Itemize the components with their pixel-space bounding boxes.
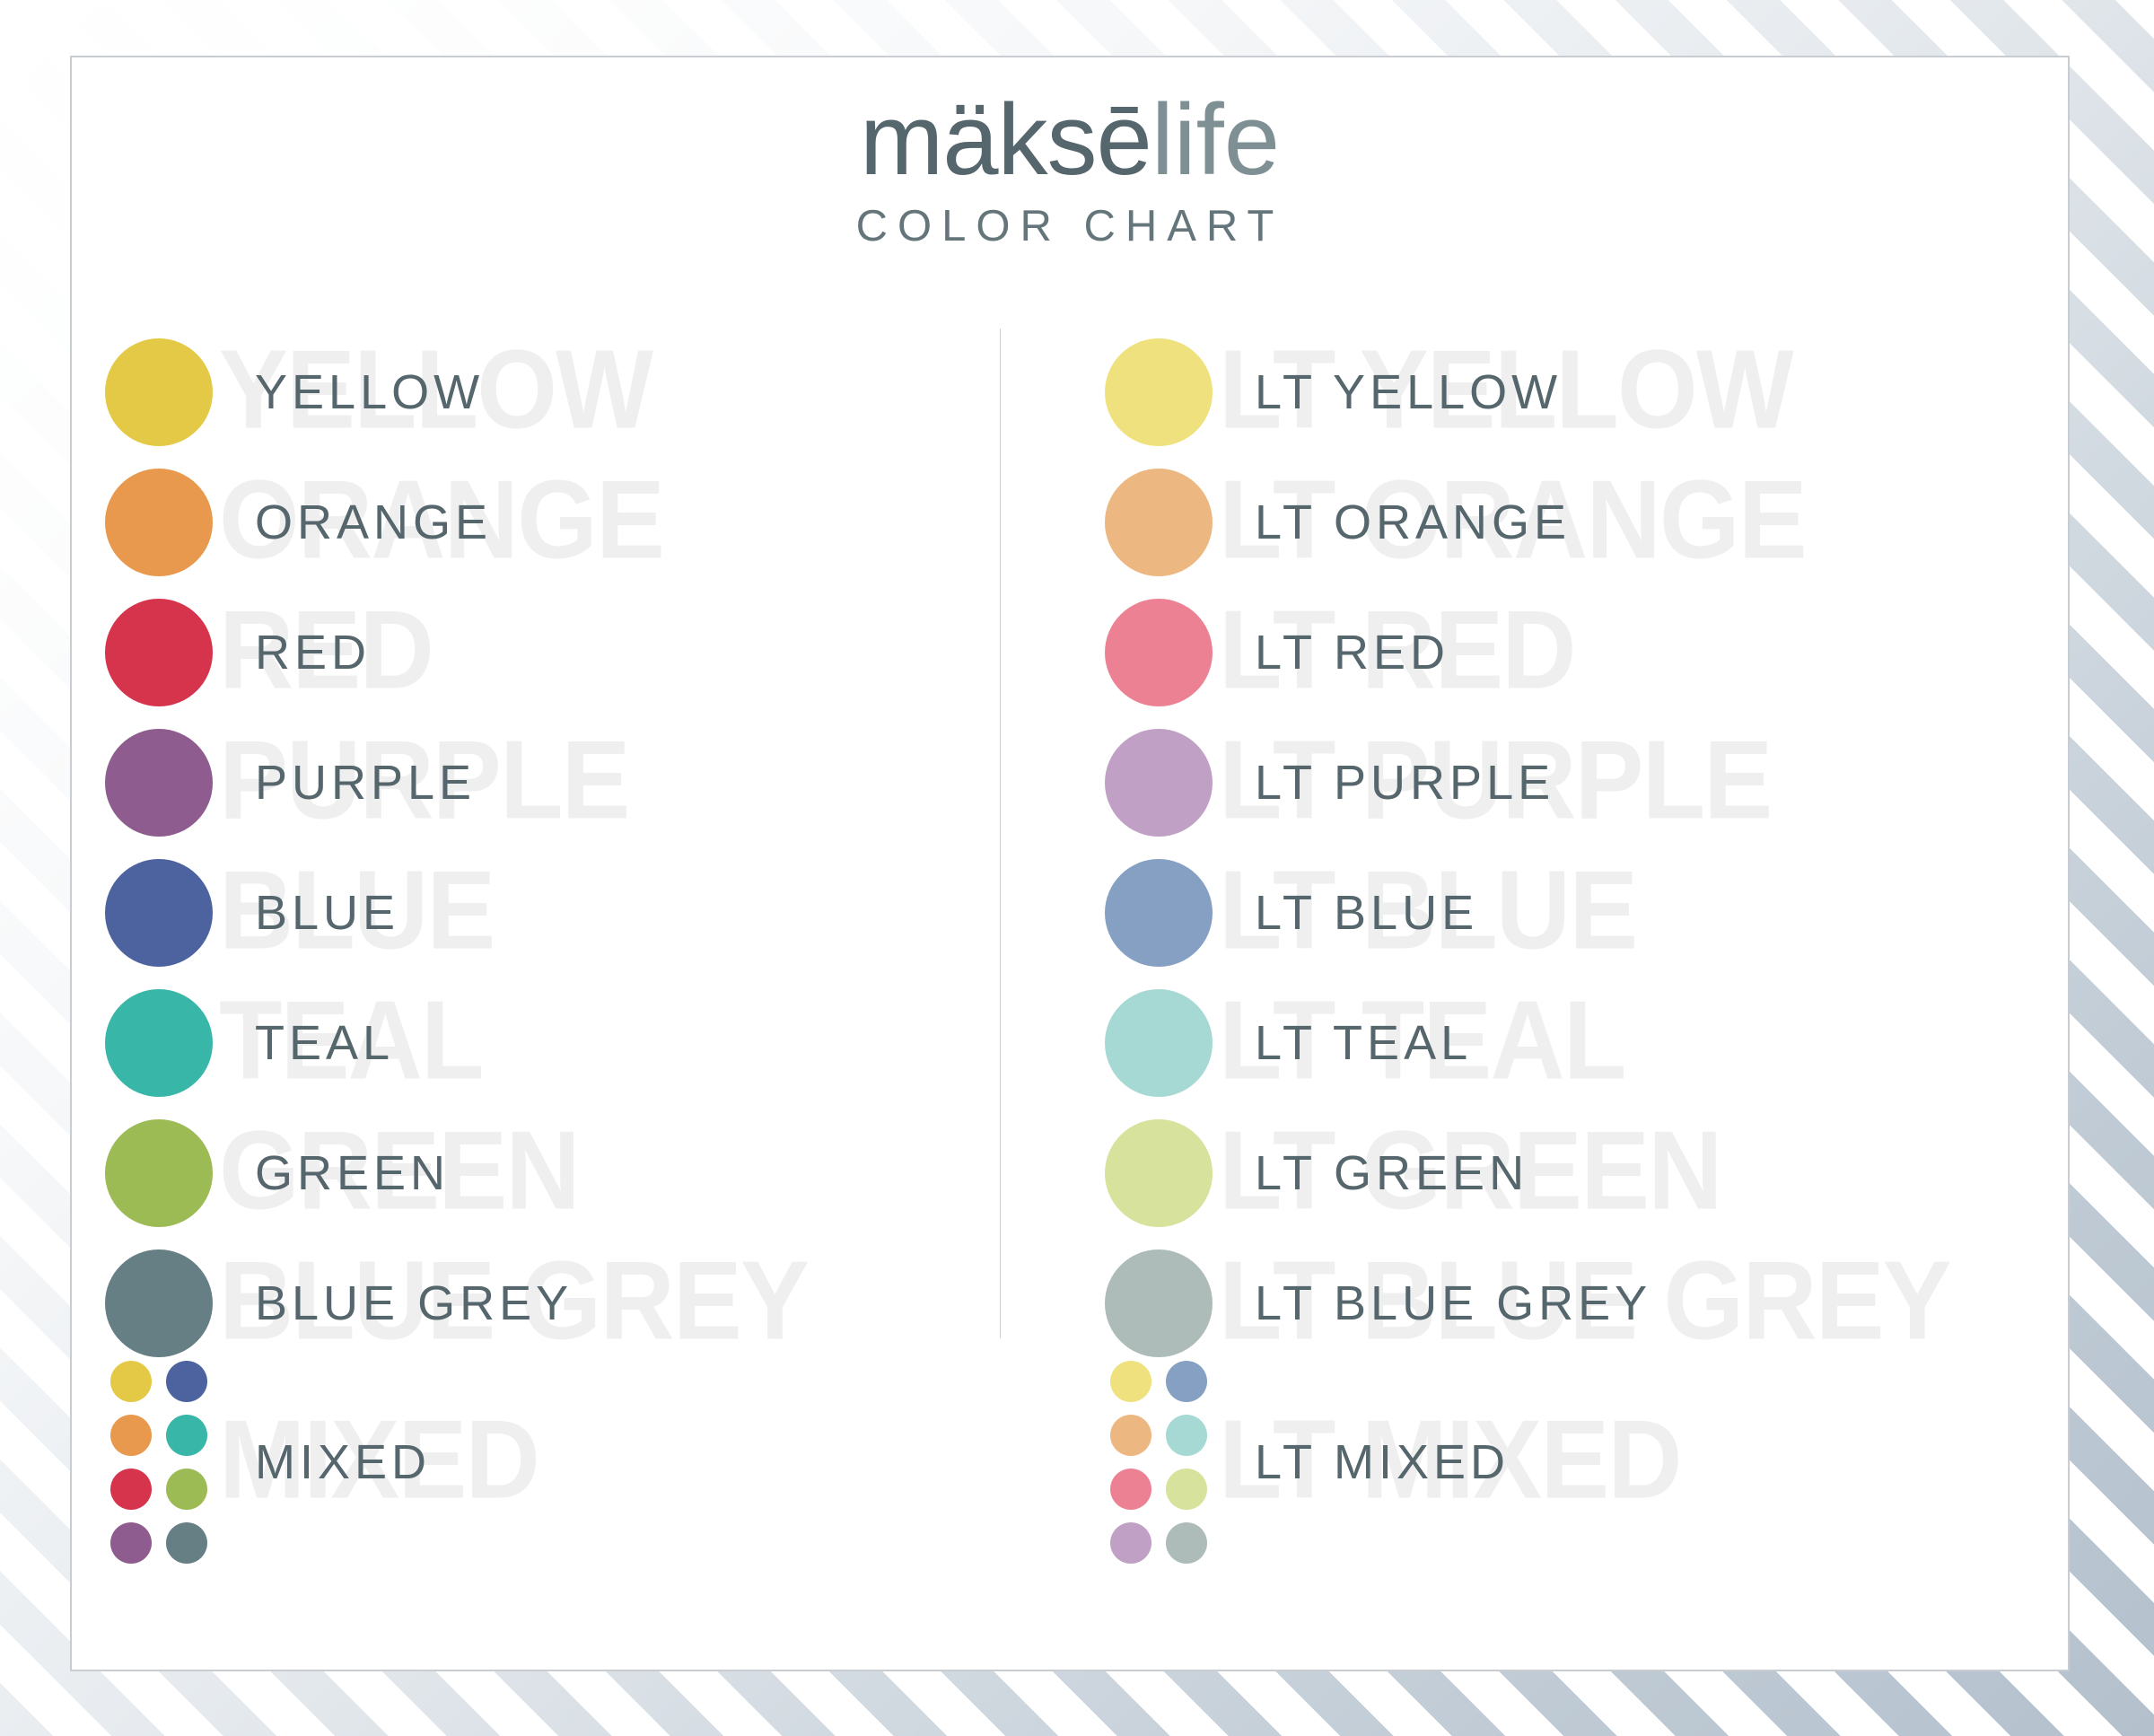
label-cell: REDRED (226, 587, 1072, 717)
label-cell: BLUEBLUE (226, 847, 1072, 978)
swatch-cell (1091, 1119, 1226, 1227)
color-columns: YELLOWYELLOWORANGEORANGEREDREDPURPLEPURP… (72, 327, 2068, 1556)
mixed-mini-swatch-4[interactable] (166, 1415, 207, 1456)
swatch-cell (92, 599, 226, 706)
color-row-mixed: MIXEDMIXED (72, 1368, 1072, 1556)
color-label-blue-grey: BLUE GREY (255, 1276, 573, 1331)
color-swatch-blue[interactable] (105, 859, 213, 967)
color-row-lt-purple: LT PURPLELT PURPLE (1072, 717, 2071, 847)
mixed-mini-swatch-2[interactable] (166, 1361, 207, 1402)
mixed-mini-swatch-5[interactable] (110, 1469, 152, 1510)
mixed-mini-swatch-4[interactable] (1166, 1415, 1207, 1456)
color-label-lt-orange: LT ORANGE (1255, 495, 1571, 550)
color-label-lt-purple: LT PURPLE (1255, 755, 1554, 811)
color-row-lt-green: LT GREENLT GREEN (1072, 1108, 2071, 1238)
page-background: mäksēlife COLOR CHART YELLOWYELLOWORANGE… (0, 0, 2154, 1736)
mixed-mini-swatch-1[interactable] (1110, 1361, 1151, 1402)
label-cell: LT YELLOWLT YELLOW (1226, 327, 2071, 457)
label-cell: LT TEALLT TEAL (1226, 978, 2071, 1108)
label-cell: PURPLEPURPLE (226, 717, 1072, 847)
color-row-lt-yellow: LT YELLOWLT YELLOW (1072, 327, 2071, 457)
mixed-mini-swatch-7[interactable] (1110, 1522, 1151, 1564)
color-swatch-lt-blue[interactable] (1105, 859, 1213, 967)
mixed-mini-swatch-8[interactable] (166, 1522, 207, 1564)
label-cell: LT BLUE GREYLT BLUE GREY (1226, 1238, 2071, 1368)
color-row-blue-grey: BLUE GREYBLUE GREY (72, 1238, 1072, 1368)
color-label-lt-yellow: LT YELLOW (1255, 364, 1562, 420)
swatch-cell (92, 729, 226, 837)
label-cell: YELLOWYELLOW (226, 327, 1072, 457)
mixed-swatch-grid[interactable] (110, 1361, 207, 1564)
color-row-purple: PURPLEPURPLE (72, 717, 1072, 847)
mixed-mini-swatch-3[interactable] (110, 1415, 152, 1456)
color-row-lt-blue-grey: LT BLUE GREYLT BLUE GREY (1072, 1238, 2071, 1368)
swatch-cell (1091, 338, 1226, 446)
color-label-lt-green: LT GREEN (1255, 1145, 1528, 1201)
label-cell: LT REDLT RED (1226, 587, 2071, 717)
mixed-mini-swatch-1[interactable] (110, 1361, 152, 1402)
color-label-lt-blue: LT BLUE (1255, 885, 1478, 941)
color-swatch-lt-blue-grey[interactable] (1105, 1249, 1213, 1357)
color-swatch-blue-grey[interactable] (105, 1249, 213, 1357)
color-label-lt-teal: LT TEAL (1255, 1015, 1472, 1071)
wordmark-primary: mäksē (860, 83, 1151, 196)
swatch-cell (1091, 599, 1226, 706)
swatch-cell (92, 989, 226, 1097)
color-label-teal: TEAL (255, 1015, 394, 1071)
color-swatch-yellow[interactable] (105, 338, 213, 446)
color-label-lt-red: LT RED (1255, 625, 1449, 680)
color-label-green: GREEN (255, 1145, 450, 1201)
color-label-red: RED (255, 625, 371, 680)
swatch-cell (92, 859, 226, 967)
mixed-mini-swatch-2[interactable] (1166, 1361, 1207, 1402)
label-cell: GREENGREEN (226, 1108, 1072, 1238)
mixed-mini-swatch-8[interactable] (1166, 1522, 1207, 1564)
swatch-cell (1091, 1249, 1226, 1357)
color-row-orange: ORANGEORANGE (72, 457, 1072, 587)
swatch-cell (1091, 989, 1226, 1097)
color-swatch-lt-yellow[interactable] (1105, 338, 1213, 446)
label-cell: LT MIXEDLT MIXED (1226, 1368, 2071, 1556)
mixed-mini-swatch-7[interactable] (110, 1522, 152, 1564)
swatch-cell-mixed (1091, 1361, 1226, 1564)
color-row-yellow: YELLOWYELLOW (72, 327, 1072, 457)
color-row-lt-teal: LT TEALLT TEAL (1072, 978, 2071, 1108)
color-chart-card: mäksēlife COLOR CHART YELLOWYELLOWORANGE… (70, 56, 2070, 1671)
color-label-lt-blue-grey: LT BLUE GREY (1255, 1276, 1651, 1331)
label-cell: LT GREENLT GREEN (1226, 1108, 2071, 1238)
label-cell: ORANGEORANGE (226, 457, 1072, 587)
swatch-cell-mixed (92, 1361, 226, 1564)
color-label-lt-mixed: LT MIXED (1255, 1434, 1510, 1490)
swatch-cell (1091, 729, 1226, 837)
color-swatch-lt-green[interactable] (1105, 1119, 1213, 1227)
label-cell: LT PURPLELT PURPLE (1226, 717, 2071, 847)
color-label-orange: ORANGE (255, 495, 492, 550)
color-label-purple: PURPLE (255, 755, 476, 811)
mixed-swatch-grid[interactable] (1110, 1361, 1207, 1564)
color-row-teal: TEALTEAL (72, 978, 1072, 1108)
color-row-lt-orange: LT ORANGELT ORANGE (1072, 457, 2071, 587)
color-row-green: GREENGREEN (72, 1108, 1072, 1238)
swatch-cell (92, 469, 226, 576)
light-colors-column: LT YELLOWLT YELLOWLT ORANGELT ORANGELT R… (1072, 327, 2071, 1556)
color-swatch-red[interactable] (105, 599, 213, 706)
wordmark-secondary: life (1151, 83, 1280, 196)
chart-header: mäksēlife COLOR CHART (72, 57, 2068, 251)
label-cell: TEALTEAL (226, 978, 1072, 1108)
color-swatch-lt-purple[interactable] (1105, 729, 1213, 837)
mixed-mini-swatch-6[interactable] (1166, 1469, 1207, 1510)
color-row-lt-mixed: LT MIXEDLT MIXED (1072, 1368, 2071, 1556)
mixed-mini-swatch-6[interactable] (166, 1469, 207, 1510)
color-swatch-lt-teal[interactable] (1105, 989, 1213, 1097)
swatch-cell (1091, 469, 1226, 576)
color-label-mixed: MIXED (255, 1434, 431, 1490)
color-row-red: REDRED (72, 587, 1072, 717)
swatch-cell (1091, 859, 1226, 967)
color-swatch-lt-red[interactable] (1105, 599, 1213, 706)
color-swatch-purple[interactable] (105, 729, 213, 837)
mixed-mini-swatch-5[interactable] (1110, 1469, 1151, 1510)
label-cell: BLUE GREYBLUE GREY (226, 1238, 1072, 1368)
page-title: COLOR CHART (72, 201, 2068, 251)
label-cell: LT ORANGELT ORANGE (1226, 457, 2071, 587)
brand-wordmark: mäksēlife (72, 90, 2068, 190)
color-swatch-orange[interactable] (105, 469, 213, 576)
swatch-cell (92, 338, 226, 446)
color-label-yellow: YELLOW (255, 364, 484, 420)
swatch-cell (92, 1119, 226, 1227)
mixed-mini-swatch-3[interactable] (1110, 1415, 1151, 1456)
color-row-blue: BLUEBLUE (72, 847, 1072, 978)
color-swatch-lt-orange[interactable] (1105, 469, 1213, 576)
label-cell: LT BLUELT BLUE (1226, 847, 2071, 978)
swatch-cell (92, 1249, 226, 1357)
color-row-lt-red: LT REDLT RED (1072, 587, 2071, 717)
color-swatch-teal[interactable] (105, 989, 213, 1097)
color-swatch-green[interactable] (105, 1119, 213, 1227)
color-label-blue: BLUE (255, 885, 399, 941)
label-cell: MIXEDMIXED (226, 1368, 1072, 1556)
standard-colors-column: YELLOWYELLOWORANGEORANGEREDREDPURPLEPURP… (72, 327, 1072, 1556)
color-row-lt-blue: LT BLUELT BLUE (1072, 847, 2071, 978)
